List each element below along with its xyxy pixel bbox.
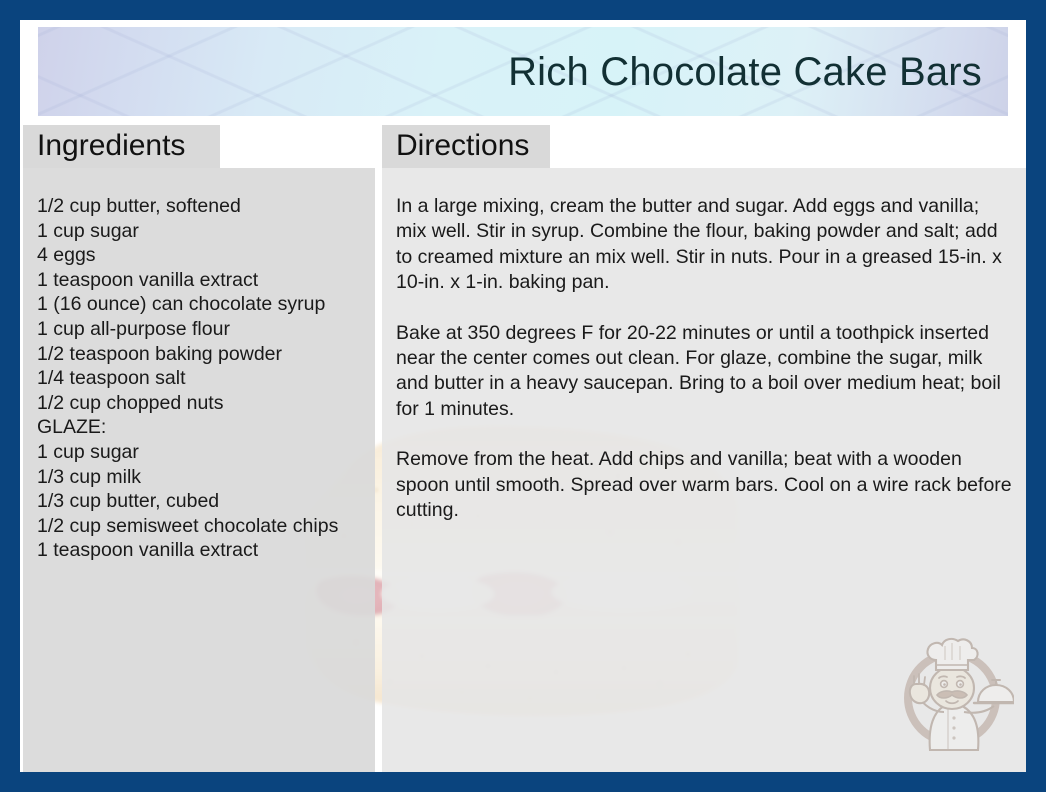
border-right (1026, 0, 1046, 792)
list-item: 1 cup sugar (37, 440, 361, 465)
direction-paragraph: Bake at 350 degrees F for 20-22 minutes … (396, 321, 1012, 423)
list-item: 1 teaspoon vanilla extract (37, 538, 361, 563)
list-item: 1/2 cup chopped nuts (37, 391, 361, 416)
list-item: GLAZE: (37, 415, 361, 440)
border-top (0, 0, 1046, 20)
direction-paragraph: Remove from the heat. Add chips and vani… (396, 447, 1012, 523)
list-item: 1/2 cup semisweet chocolate chips (37, 514, 361, 539)
directions-heading: Directions (396, 131, 524, 161)
directions-body: In a large mixing, cream the butter and … (382, 168, 1026, 772)
direction-paragraph: In a large mixing, cream the butter and … (396, 194, 1012, 296)
list-item: 1 cup all-purpose flour (37, 317, 361, 342)
border-bottom (0, 772, 1046, 792)
ingredients-panel: Ingredients 1/2 cup butter, softened 1 c… (23, 125, 375, 772)
ingredients-heading-block: Ingredients (23, 125, 220, 168)
ingredients-list: 1/2 cup butter, softened 1 cup sugar 4 e… (23, 168, 375, 772)
border-left (0, 0, 20, 792)
list-item: 1 (16 ounce) can chocolate syrup (37, 292, 361, 317)
list-item: 4 eggs (37, 243, 361, 268)
directions-heading-block: Directions (382, 125, 550, 168)
list-item: 1/3 cup butter, cubed (37, 489, 361, 514)
list-item: 1 cup sugar (37, 219, 361, 244)
title-banner: Rich Chocolate Cake Bars (38, 27, 1008, 116)
card-page: Rich Chocolate Cake Bars (20, 20, 1026, 772)
recipe-card: Rich Chocolate Cake Bars (0, 0, 1046, 792)
page-title: Rich Chocolate Cake Bars (508, 50, 982, 94)
list-item: 1/2 cup butter, softened (37, 194, 361, 219)
list-item: 1/3 cup milk (37, 465, 361, 490)
list-item: 1/4 teaspoon salt (37, 366, 361, 391)
list-item: 1 teaspoon vanilla extract (37, 268, 361, 293)
list-item: 1/2 teaspoon baking powder (37, 342, 361, 367)
ingredients-heading: Ingredients (37, 131, 194, 161)
directions-panel: Directions In a large mixing, cream the … (382, 125, 1026, 772)
